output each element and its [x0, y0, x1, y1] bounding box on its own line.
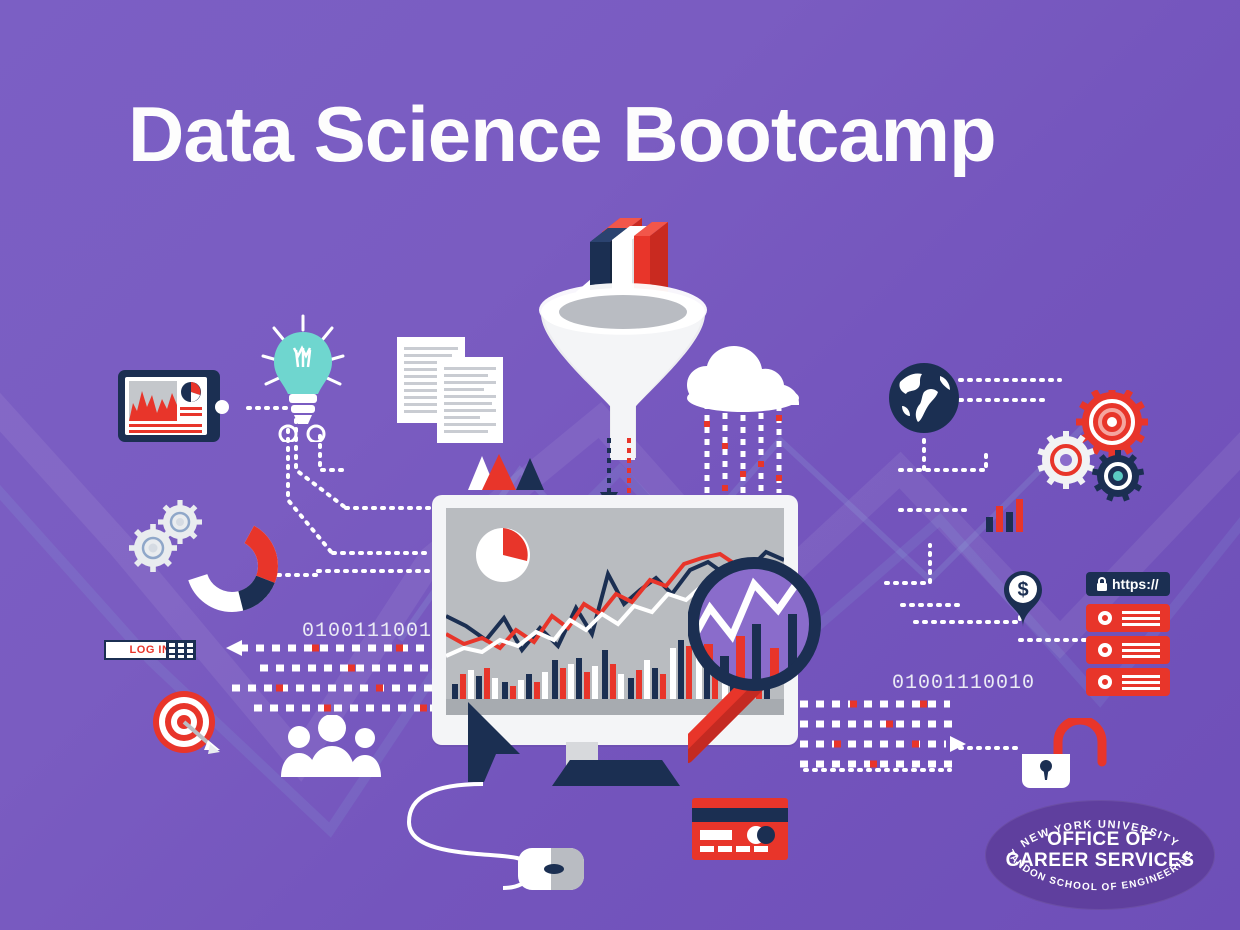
server-power-icon: [1098, 611, 1112, 625]
padlock-icon[interactable]: [1018, 718, 1108, 790]
dollar-pin-icon[interactable]: $: [1002, 570, 1044, 628]
server-power-icon: [1098, 675, 1112, 689]
target-icon[interactable]: [152, 690, 220, 758]
server-rack-row-2[interactable]: [1086, 636, 1170, 664]
credit-card-icon[interactable]: [692, 798, 788, 860]
donut-chart-icon[interactable]: [186, 520, 278, 612]
tablet-pie-chart: [180, 381, 202, 403]
magnifier-icon[interactable]: [688, 552, 923, 802]
globe-icon[interactable]: [888, 362, 960, 434]
svg-text:$: $: [1017, 579, 1028, 601]
people-icon[interactable]: [278, 715, 386, 777]
documents-icon[interactable]: [395, 335, 505, 445]
lock-icon: [1094, 576, 1110, 592]
nyu-office-line: OFFICE OF: [985, 829, 1215, 851]
triangles-icon: [466, 452, 546, 492]
server-rack-row-1[interactable]: [1086, 604, 1170, 632]
https-label: https://: [1112, 576, 1159, 592]
nyu-career-services-line: CAREER SERVICES: [985, 850, 1215, 872]
tablet-area-chart: [129, 381, 177, 421]
lightbulb-icon[interactable]: [258, 312, 348, 442]
gears-icon[interactable]: [1030, 390, 1160, 505]
server-rack-row-3[interactable]: [1086, 668, 1170, 696]
gear-navy: [1092, 450, 1144, 501]
tablet-chart-icon[interactable]: [118, 370, 220, 442]
poster-canvas: Data Science Bootcamp: [0, 0, 1240, 930]
mouse-icon[interactable]: [518, 848, 584, 890]
cloud-icon[interactable]: [685, 343, 801, 503]
mini-bar-chart-icon: [984, 496, 1026, 532]
nyu-logo-badge[interactable]: NEW YORK UNIVERSITY TANDON SCHOOL OF ENG…: [985, 800, 1215, 910]
cloud-rain: [704, 401, 782, 501]
gear-red: [1076, 390, 1148, 458]
server-power-icon: [1098, 643, 1112, 657]
dashboard-pie-chart: [476, 528, 530, 582]
login-grid-icon: [166, 640, 196, 660]
